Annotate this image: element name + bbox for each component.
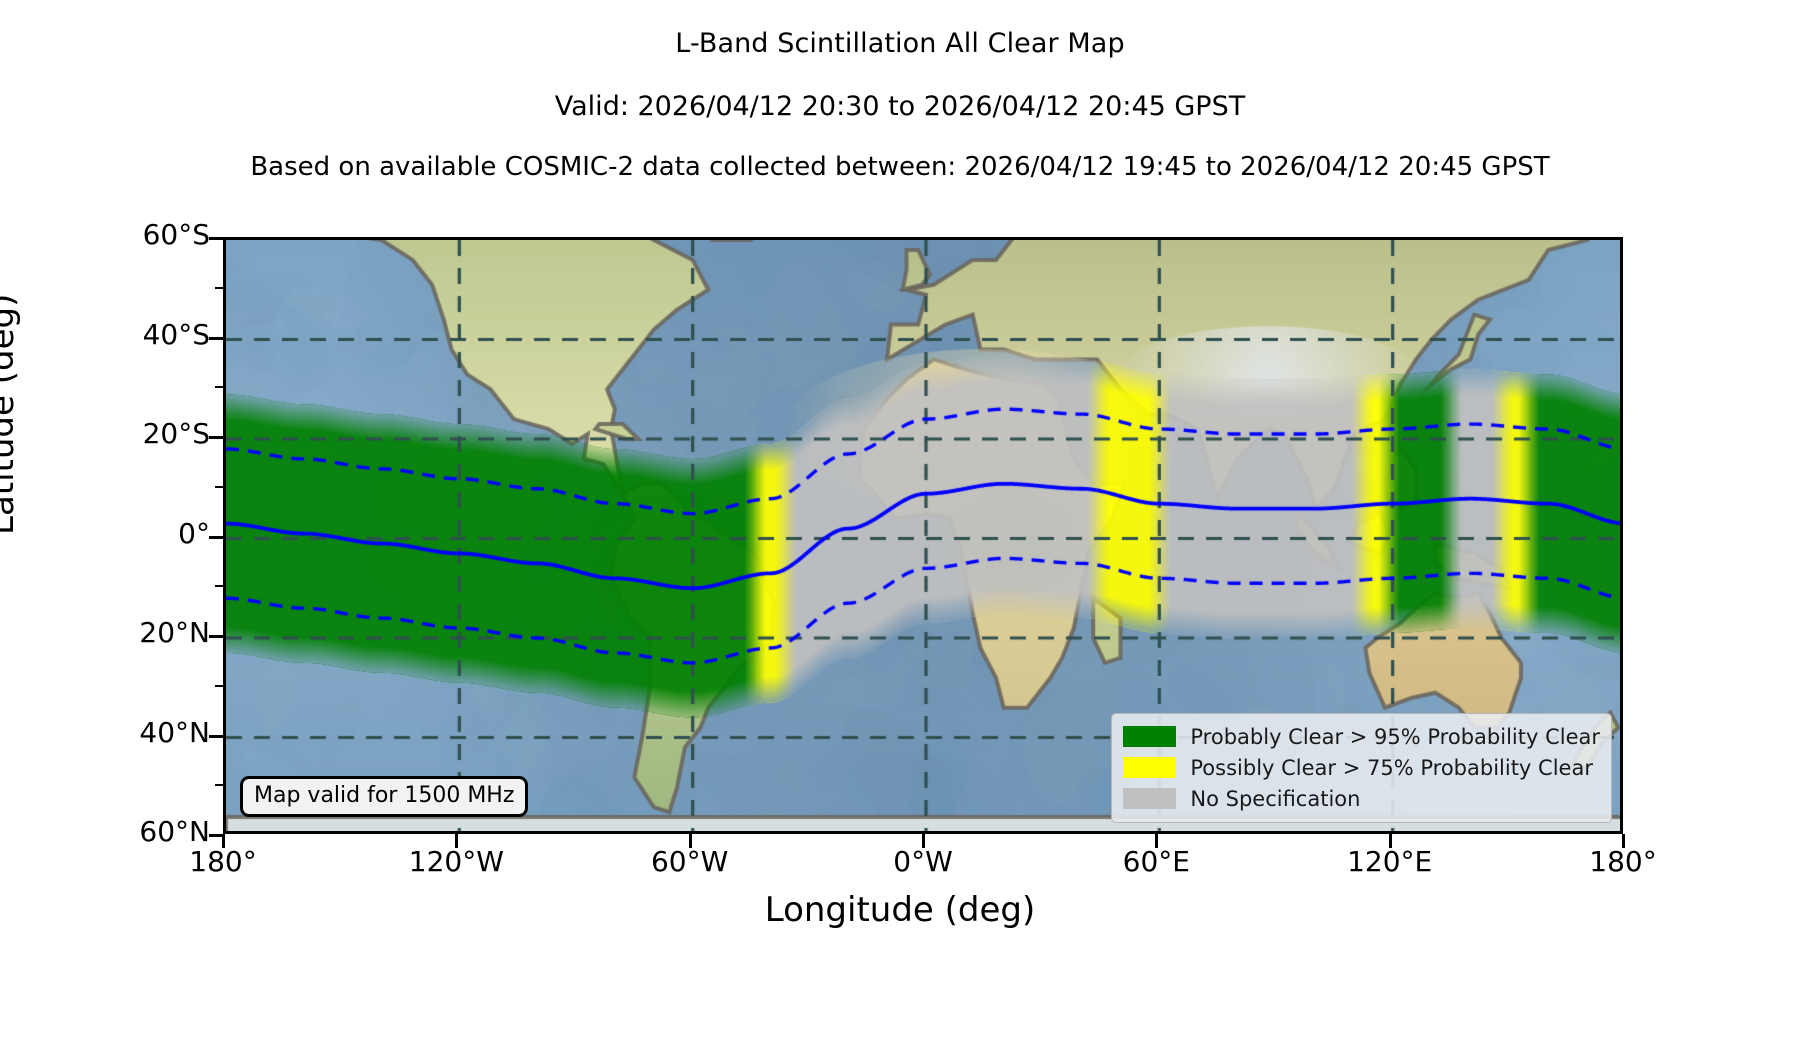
map-plot-area[interactable]: Probably Clear > 95% Probability ClearPo…	[223, 237, 1623, 834]
y-tick-mark	[209, 237, 223, 240]
title-block: L-Band Scintillation All Clear Map Valid…	[0, 0, 1800, 182]
x-tick-mark	[222, 834, 225, 848]
x-tick-label: 180°	[1513, 845, 1733, 878]
legend-label: Possibly Clear > 75% Probability Clear	[1190, 756, 1593, 780]
y-tick-label: 60°S	[10, 218, 210, 251]
x-tick-label: 120°W	[346, 845, 566, 878]
y-tick-mark	[209, 834, 223, 837]
frequency-annotation: Map valid for 1500 MHz	[240, 776, 528, 817]
legend-swatch-no-specification	[1123, 788, 1176, 809]
y-minor-tick	[215, 287, 223, 289]
x-tick-label: 120°E	[1280, 845, 1500, 878]
legend-item-probably-clear[interactable]: Probably Clear > 95% Probability Clear	[1123, 721, 1600, 752]
y-tick-mark	[209, 337, 223, 340]
legend-label: Probably Clear > 95% Probability Clear	[1190, 725, 1600, 749]
legend-item-possibly-clear[interactable]: Possibly Clear > 75% Probability Clear	[1123, 752, 1600, 783]
x-tick-mark	[689, 834, 692, 848]
validity-subtitle: Valid: 2026/04/12 20:30 to 2026/04/12 20…	[0, 91, 1800, 122]
y-tick-mark	[209, 536, 223, 539]
legend-label: No Specification	[1190, 787, 1360, 811]
page-title: L-Band Scintillation All Clear Map	[0, 28, 1800, 59]
legend-item-no-specification[interactable]: No Specification	[1123, 783, 1600, 814]
x-tick-mark	[1622, 834, 1625, 848]
y-tick-label: 40°S	[10, 318, 210, 351]
x-tick-label: 180°	[113, 845, 333, 878]
y-tick-mark	[209, 436, 223, 439]
y-tick-mark	[209, 635, 223, 638]
x-tick-label: 0°W	[813, 845, 1033, 878]
x-tick-label: 60°W	[580, 845, 800, 878]
y-tick-mark	[209, 735, 223, 738]
y-tick-label: 20°S	[10, 417, 210, 450]
y-tick-label: 0°	[10, 517, 210, 550]
data-source-subtitle: Based on available COSMIC-2 data collect…	[0, 152, 1800, 182]
x-tick-mark	[455, 834, 458, 848]
y-minor-tick	[215, 486, 223, 488]
y-tick-label: 40°N	[10, 716, 210, 749]
x-tick-mark	[922, 834, 925, 848]
x-axis-label: Longitude (deg)	[0, 890, 1800, 930]
legend[interactable]: Probably Clear > 95% Probability ClearPo…	[1111, 713, 1612, 823]
legend-swatch-probably-clear	[1123, 726, 1176, 747]
y-tick-label: 20°N	[10, 616, 210, 649]
x-tick-mark	[1155, 834, 1158, 848]
y-minor-tick	[215, 386, 223, 388]
y-minor-tick	[215, 784, 223, 786]
y-minor-tick	[215, 585, 223, 587]
legend-swatch-possibly-clear	[1123, 757, 1176, 778]
y-minor-tick	[215, 685, 223, 687]
x-tick-label: 60°E	[1046, 845, 1266, 878]
y-tick-label: 60°N	[10, 815, 210, 848]
x-tick-mark	[1389, 834, 1392, 848]
